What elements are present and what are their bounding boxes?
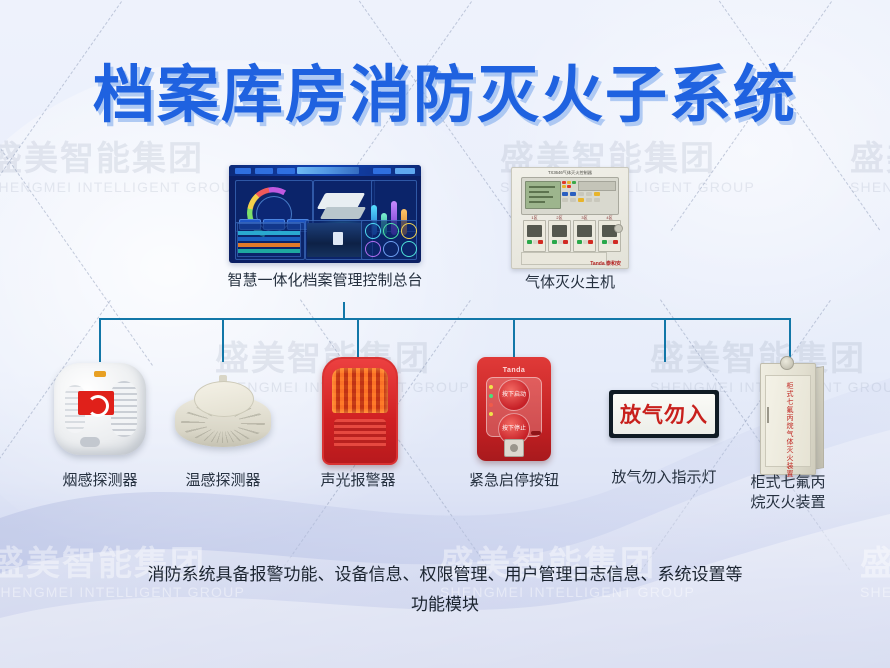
status-leds xyxy=(562,181,576,189)
emergency-button-icon: Tanda 按下启动 按下停止 xyxy=(477,357,551,461)
cabinet-text: 柜式七氟丙烷气体灭火装置 xyxy=(784,383,796,479)
device-label-line1: 柜式七氟丙 xyxy=(750,474,825,491)
start-button[interactable]: 按下启动 xyxy=(498,379,530,411)
indicator-led xyxy=(94,371,106,377)
top-device-console[interactable]: 智慧一体化档案管理控制总台 xyxy=(229,165,421,263)
smoke-detector-icon xyxy=(54,363,146,455)
zone-label: 2区 xyxy=(549,215,570,221)
sign-text: 放气勿入 xyxy=(620,399,708,429)
device-label: 柜式七氟丙 烷灭火装置 xyxy=(745,473,831,513)
device-emergency-button[interactable]: Tanda 按下启动 按下停止 紧急启停按钮 xyxy=(477,357,551,461)
keypad[interactable] xyxy=(562,192,614,206)
device-label: 温感探测器 xyxy=(185,471,260,491)
sign-face: 放气勿入 xyxy=(613,394,715,434)
panel-display-area xyxy=(521,177,619,215)
sound-light-alarm-icon xyxy=(322,357,398,465)
top-device-gas-host[interactable]: TX3646气体灭火控制器 xyxy=(511,167,629,269)
poster-root: 盛美智能集团 SHENGMEI INTELLIGENT GROUP 盛美智能集团… xyxy=(0,0,890,668)
brand-label: Tanda 泰和安 xyxy=(590,260,621,267)
device-label-line2: 烷灭火装置 xyxy=(750,494,825,511)
footer-line1: 消防系统具备报警功能、设备信息、权限管理、用户管理日志信息、系统设置等 xyxy=(148,565,743,584)
panel-header-text: TX3646气体灭火控制器 xyxy=(512,170,628,176)
heat-detector-icon xyxy=(175,373,271,457)
device-gas-release-sign[interactable]: 放气勿入 放气勿入指示灯 xyxy=(609,390,719,438)
product-label xyxy=(78,391,114,415)
extinguisher-cabinet-icon: 柜式七氟丙烷气体灭火装置 xyxy=(760,355,822,473)
page-title: 档案库房消防灭火子系统 xyxy=(0,44,890,134)
top-device-label: 气体灭火主机 xyxy=(525,271,615,292)
device-sound-light-alarm[interactable]: 声光报警器 xyxy=(322,357,398,465)
dashboard-topbar xyxy=(229,165,421,176)
zone-label: 1区 xyxy=(524,215,545,221)
device-heat-detector[interactable]: 温感探测器 xyxy=(175,373,271,457)
stop-button-label: 按下停止 xyxy=(502,426,526,433)
brand-label: Tanda xyxy=(477,367,551,374)
device-extinguisher-cabinet[interactable]: 柜式七氟丙烷气体灭火装置 柜式七氟丙 烷灭火装置 xyxy=(760,355,822,473)
bracket-riser xyxy=(343,302,345,320)
strobe-lens xyxy=(332,368,388,413)
device-label: 声光报警器 xyxy=(320,471,395,491)
device-label: 烟感探测器 xyxy=(62,471,137,491)
start-button-label: 按下启动 xyxy=(502,392,526,399)
footer-line2: 功能模块 xyxy=(0,590,890,620)
key-lock[interactable] xyxy=(504,439,524,457)
zone-label: 3区 xyxy=(574,215,595,221)
panel-lock-knob[interactable] xyxy=(614,224,623,233)
control-panel: TX3646气体灭火控制器 xyxy=(511,167,629,269)
top-device-label: 智慧一体化档案管理控制总台 xyxy=(227,269,422,290)
lcd-screen xyxy=(525,181,561,209)
device-label: 放气勿入指示灯 xyxy=(611,468,716,488)
status-leds xyxy=(489,385,495,421)
device-smoke-detector[interactable]: 烟感探测器 xyxy=(54,363,146,455)
zone-module[interactable]: 3区 xyxy=(573,220,596,252)
zone-module[interactable]: 1区 xyxy=(523,220,546,252)
bracket-horizontal xyxy=(99,318,791,320)
device-label: 紧急启停按钮 xyxy=(469,471,559,491)
status-icon-grid xyxy=(365,221,415,259)
speaker-grille xyxy=(334,419,386,449)
dashboard-screen xyxy=(229,165,421,263)
top-devices-row: 智慧一体化档案管理控制总台 TX3646气体灭火控制器 xyxy=(0,165,890,305)
zone-label: 4区 xyxy=(599,215,620,221)
area-chart xyxy=(237,223,301,257)
zone-module[interactable]: 2区 xyxy=(548,220,571,252)
camera-feed xyxy=(307,223,369,257)
pressure-gauge xyxy=(780,356,794,370)
footer-description: 消防系统具备报警功能、设备信息、权限管理、用户管理日志信息、系统设置等 功能模块 xyxy=(0,560,890,620)
device-row: 烟感探测器 温感探测器 声光报警器 Tanda xyxy=(0,355,890,520)
function-key-strip[interactable] xyxy=(578,181,616,191)
gas-release-sign-icon: 放气勿入 xyxy=(609,390,719,438)
